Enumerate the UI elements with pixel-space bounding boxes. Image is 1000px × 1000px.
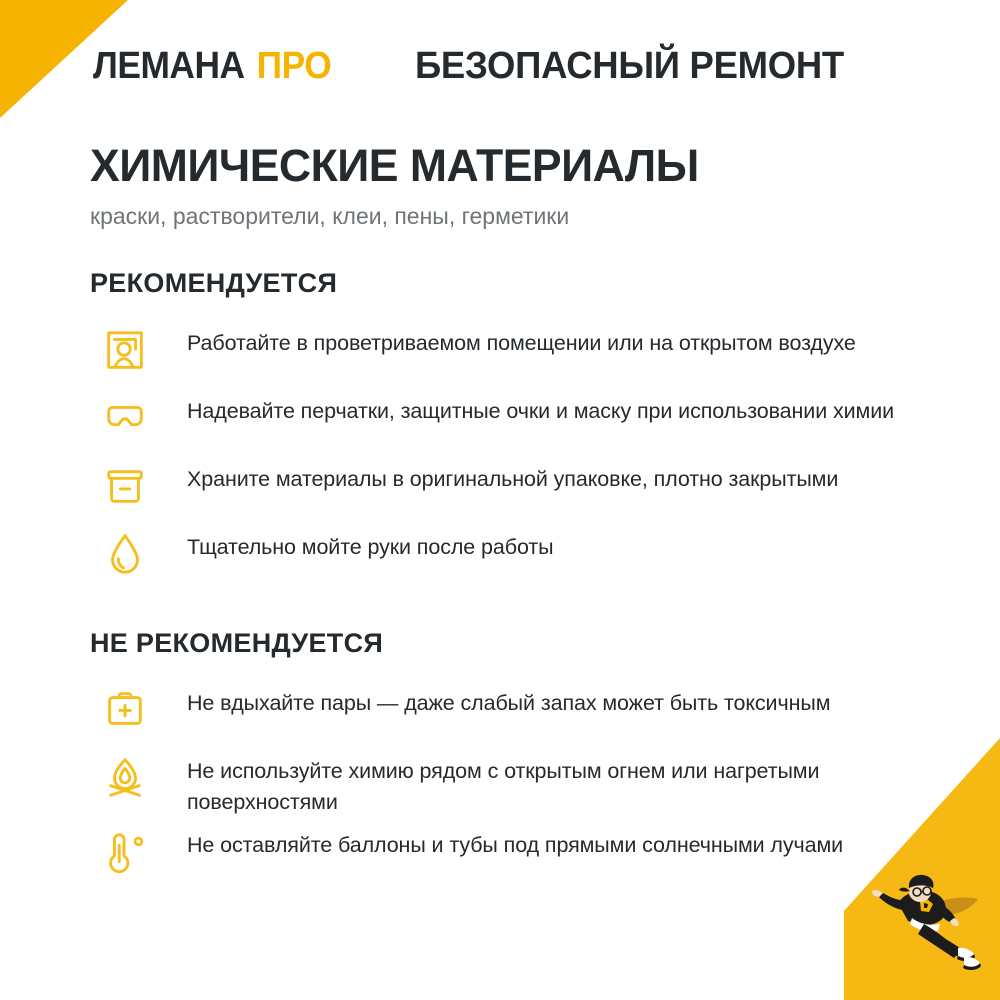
thermometer-sun-icon	[96, 823, 154, 881]
list-item: Не оставляйте баллоны и тубы под прямыми…	[90, 823, 930, 885]
list-item: Работайте в проветриваемом помещении или…	[90, 321, 930, 383]
list-item-text: Не вдыхайте пары — даже слабый запах мож…	[154, 681, 930, 719]
list-item: Не вдыхайте пары — даже слабый запах мож…	[90, 681, 930, 743]
sealed-container-icon	[96, 457, 154, 515]
list-item-text: Не оставляйте баллоны и тубы под прямыми…	[154, 823, 930, 861]
list-item: Надевайте перчатки, защитные очки и маск…	[90, 389, 930, 451]
flying-superhero-worker-illustration	[854, 858, 994, 978]
section-not-recommended: НЕ РЕКОМЕНДУЕТСЯ Не вдыхайте пары — даже…	[90, 628, 930, 891]
list-item-text: Надевайте перчатки, защитные очки и маск…	[154, 389, 930, 427]
first-aid-kit-icon	[96, 681, 154, 739]
water-drop-icon	[96, 525, 154, 583]
logo-text-lemana: ЛЕМАНА	[93, 45, 245, 88]
page-title: ХИМИЧЕСКИЕ МАТЕРИАЛЫ	[90, 142, 912, 189]
section-heading-not-recommended: НЕ РЕКОМЕНДУЕТСЯ	[90, 628, 930, 659]
list-item-text: Работайте в проветриваемом помещении или…	[154, 321, 930, 359]
list-item-text: Тщательно мойте руки после работы	[154, 525, 930, 563]
recommended-list: Работайте в проветриваемом помещении или…	[90, 321, 930, 587]
list-item: Храните материалы в оригинальной упаковк…	[90, 457, 930, 519]
ventilated-room-icon	[96, 321, 154, 379]
brand-logo: ЛЕМАНА ПРО	[93, 45, 331, 88]
campaign-title: БЕЗОПАСНЫЙ РЕМОНТ	[415, 45, 844, 88]
open-flame-icon	[96, 749, 154, 807]
list-item-text: Не используйте химию рядом с открытым ог…	[154, 749, 930, 817]
section-recommended: РЕКОМЕНДУЕТСЯ Работайте в проветриваемом…	[90, 268, 930, 593]
list-item-text: Храните материалы в оригинальной упаковк…	[154, 457, 930, 495]
list-item: Не используйте химию рядом с открытым ог…	[90, 749, 930, 817]
section-heading-recommended: РЕКОМЕНДУЕТСЯ	[90, 268, 930, 299]
safety-goggles-icon	[96, 389, 154, 447]
not-recommended-list: Не вдыхайте пары — даже слабый запах мож…	[90, 681, 930, 885]
list-item: Тщательно мойте руки после работы	[90, 525, 930, 587]
header: ЛЕМАНА ПРО БЕЗОПАСНЫЙ РЕМОНТ	[93, 38, 940, 94]
safety-poster: ЛЕМАНА ПРО БЕЗОПАСНЫЙ РЕМОНТ ХИМИЧЕСКИЕ …	[0, 0, 1000, 1000]
logo-text-pro: ПРО	[257, 45, 332, 88]
page-subtitle: краски, растворители, клеи, пены, гермет…	[90, 203, 920, 231]
title-block: ХИМИЧЕСКИЕ МАТЕРИАЛЫ краски, растворител…	[90, 142, 920, 231]
